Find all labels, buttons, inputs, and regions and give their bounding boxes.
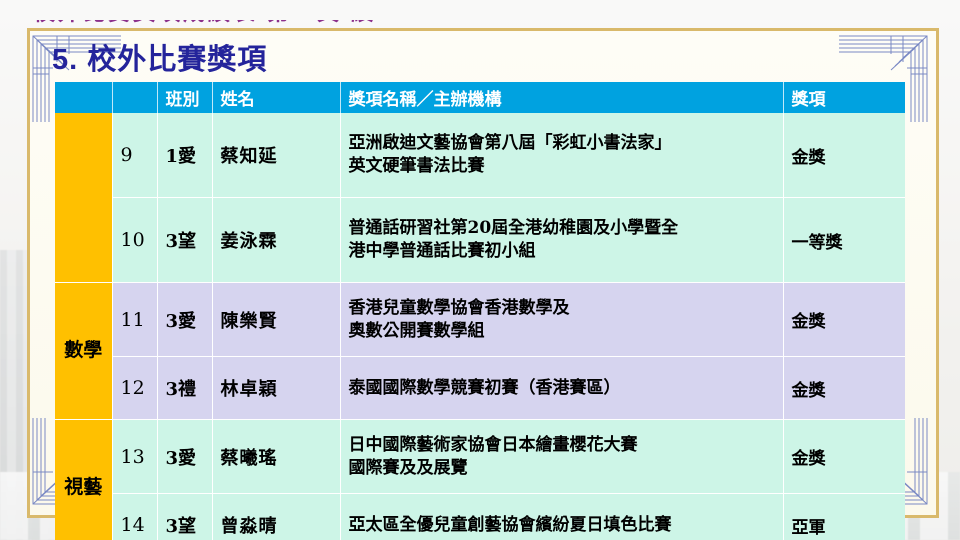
cell-event: 亞太區全優兒童創藝協會繽紛夏日填色比賽 — [340, 494, 783, 540]
cell-number: 9 — [112, 113, 157, 198]
column-header-category — [55, 82, 112, 113]
cell-prize: 金獎 — [783, 357, 905, 420]
cell-event-line2: 國際賽及及展覽 — [349, 457, 775, 480]
cell-name: 蔡曦瑤 — [212, 420, 340, 494]
cell-prize: 一等獎 — [783, 198, 905, 283]
cell-class: 3禮 — [157, 357, 212, 420]
page-title: 5. 校外比賽獎項 — [52, 36, 267, 78]
cell-class: 3愛 — [157, 420, 212, 494]
cell-prize: 金獎 — [783, 420, 905, 494]
cell-prize: 金獎 — [783, 113, 905, 198]
awards-table: 班別 姓名 獎項名稱／主辦機構 獎項 9 1愛 蔡知延 亞洲啟迪文藝協會第八屆「… — [55, 82, 905, 540]
column-header-name: 姓名 — [212, 82, 340, 113]
column-header-class: 班別 — [157, 82, 212, 113]
column-header-number — [112, 82, 157, 113]
slide-canvas: 校外比賽獎項成績表 第二頁 續 — [0, 0, 960, 540]
cell-event-line1: 亞洲啟迪文藝協會第八屆「彩虹小書法家」 — [349, 132, 775, 155]
column-header-prize: 獎項 — [783, 82, 905, 113]
table-header: 班別 姓名 獎項名稱／主辦機構 獎項 — [55, 82, 905, 113]
cell-class: 3望 — [157, 494, 212, 540]
table-header-row: 班別 姓名 獎項名稱／主辦機構 獎項 — [55, 82, 905, 113]
awards-table-wrapper: 班別 姓名 獎項名稱／主辦機構 獎項 9 1愛 蔡知延 亞洲啟迪文藝協會第八屆「… — [55, 82, 905, 540]
clipped-top-text: 校外比賽獎項成績表 第二頁 續 — [33, 20, 793, 28]
cell-event-line1: 香港兒童數學協會香港數學及 — [349, 297, 775, 320]
cell-event: 亞洲啟迪文藝協會第八屆「彩虹小書法家」 英文硬筆書法比賽 — [340, 113, 783, 198]
table-row: 12 3禮 林卓穎 泰國國際數學競賽初賽（香港賽區） 金獎 — [55, 357, 905, 420]
cell-event-line1: 日中國際藝術家協會日本繪畫櫻花大賽 — [349, 434, 775, 457]
cell-name: 曾淼晴 — [212, 494, 340, 540]
cell-event-line1: 亞太區全優兒童創藝協會繽紛夏日填色比賽 — [349, 514, 775, 537]
table-row: 14 3望 曾淼晴 亞太區全優兒童創藝協會繽紛夏日填色比賽 亞軍 — [55, 494, 905, 540]
table-row: 數學 11 3愛 陳樂賢 香港兒童數學協會香港數學及 奧數公開賽數學組 金獎 — [55, 283, 905, 357]
cell-name: 蔡知延 — [212, 113, 340, 198]
cell-name: 陳樂賢 — [212, 283, 340, 357]
cell-number: 13 — [112, 420, 157, 494]
cell-event: 普通話研習社第20屆全港幼稚園及小學暨全 港中學普通話比賽初小組 — [340, 198, 783, 283]
cell-number: 11 — [112, 283, 157, 357]
cell-class: 3愛 — [157, 283, 212, 357]
table-row: 10 3望 姜泳霖 普通話研習社第20屆全港幼稚園及小學暨全 港中學普通話比賽初… — [55, 198, 905, 283]
cell-event-line2: 奧數公開賽數學組 — [349, 320, 775, 343]
cell-class: 1愛 — [157, 113, 212, 198]
cell-name: 林卓穎 — [212, 357, 340, 420]
cell-category: 數學 — [55, 283, 112, 420]
column-header-event: 獎項名稱／主辦機構 — [340, 82, 783, 113]
cell-event: 香港兒童數學協會香港數學及 奧數公開賽數學組 — [340, 283, 783, 357]
cell-event: 泰國國際數學競賽初賽（香港賽區） — [340, 357, 783, 420]
cell-number: 12 — [112, 357, 157, 420]
cell-prize: 亞軍 — [783, 494, 905, 540]
cell-number: 10 — [112, 198, 157, 283]
cell-prize: 金獎 — [783, 283, 905, 357]
cell-event: 日中國際藝術家協會日本繪畫櫻花大賽 國際賽及及展覽 — [340, 420, 783, 494]
table-row: 視藝 13 3愛 蔡曦瑤 日中國際藝術家協會日本繪畫櫻花大賽 國際賽及及展覽 金… — [55, 420, 905, 494]
table-row: 9 1愛 蔡知延 亞洲啟迪文藝協會第八屆「彩虹小書法家」 英文硬筆書法比賽 金獎 — [55, 113, 905, 198]
table-body: 9 1愛 蔡知延 亞洲啟迪文藝協會第八屆「彩虹小書法家」 英文硬筆書法比賽 金獎… — [55, 113, 905, 540]
cell-category — [55, 113, 112, 283]
cell-event-line2: 英文硬筆書法比賽 — [349, 155, 775, 178]
cell-category: 視藝 — [55, 420, 112, 540]
cell-event-line1: 泰國國際數學競賽初賽（香港賽區） — [349, 377, 775, 400]
cell-event-line1: 普通話研習社第20屆全港幼稚園及小學暨全 — [349, 217, 775, 240]
cell-number: 14 — [112, 494, 157, 540]
cell-name: 姜泳霖 — [212, 198, 340, 283]
cell-class: 3望 — [157, 198, 212, 283]
cell-event-line2: 港中學普通話比賽初小組 — [349, 240, 775, 263]
